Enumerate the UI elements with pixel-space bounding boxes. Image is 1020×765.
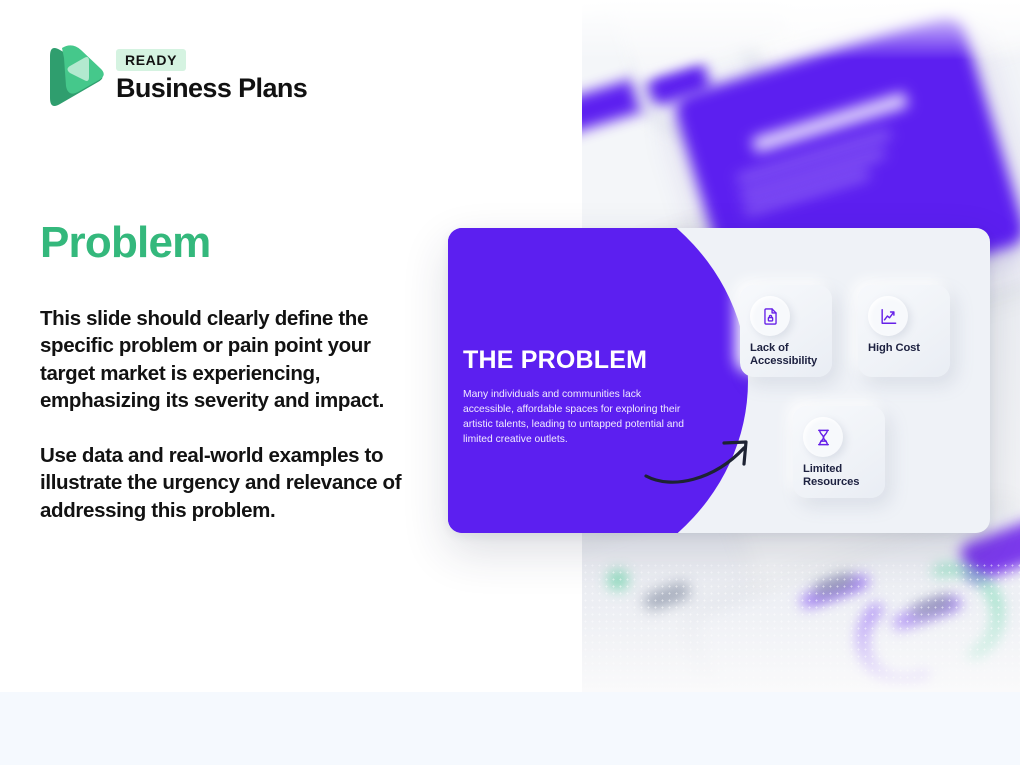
slide-heading: THE PROBLEM bbox=[463, 346, 691, 375]
body-copy: This slide should clearly define the spe… bbox=[40, 305, 418, 524]
feature-card-high-cost[interactable]: High Cost bbox=[858, 285, 950, 377]
feature-card-accessibility[interactable]: Lack of Accessibility bbox=[740, 285, 832, 377]
paragraph-2: Use data and real-world examples to illu… bbox=[40, 442, 418, 524]
play-triangle-logo-icon bbox=[40, 40, 106, 110]
slide-preview-card[interactable]: THE PROBLEM Many individuals and communi… bbox=[448, 228, 990, 533]
document-lock-icon bbox=[750, 296, 790, 336]
hourglass-icon bbox=[803, 417, 843, 457]
ready-badge: READY bbox=[116, 49, 186, 71]
brand-title: Business Plans bbox=[116, 74, 307, 102]
feature-label: Lack of Accessibility bbox=[750, 342, 846, 368]
feature-label: High Cost bbox=[868, 342, 964, 355]
feature-label: Limited Resources bbox=[803, 463, 893, 489]
page-title: Problem bbox=[40, 218, 210, 268]
bottom-accent-band bbox=[0, 692, 1020, 765]
line-chart-icon bbox=[868, 296, 908, 336]
feature-card-limited-resources[interactable]: Limited Resources bbox=[793, 406, 885, 498]
brand-logo: READY Business Plans bbox=[40, 40, 307, 110]
curved-arrow-icon bbox=[644, 430, 764, 490]
slide-stage: READY Business Plans Problem This slide … bbox=[0, 0, 1020, 765]
paragraph-1: This slide should clearly define the spe… bbox=[40, 305, 418, 415]
